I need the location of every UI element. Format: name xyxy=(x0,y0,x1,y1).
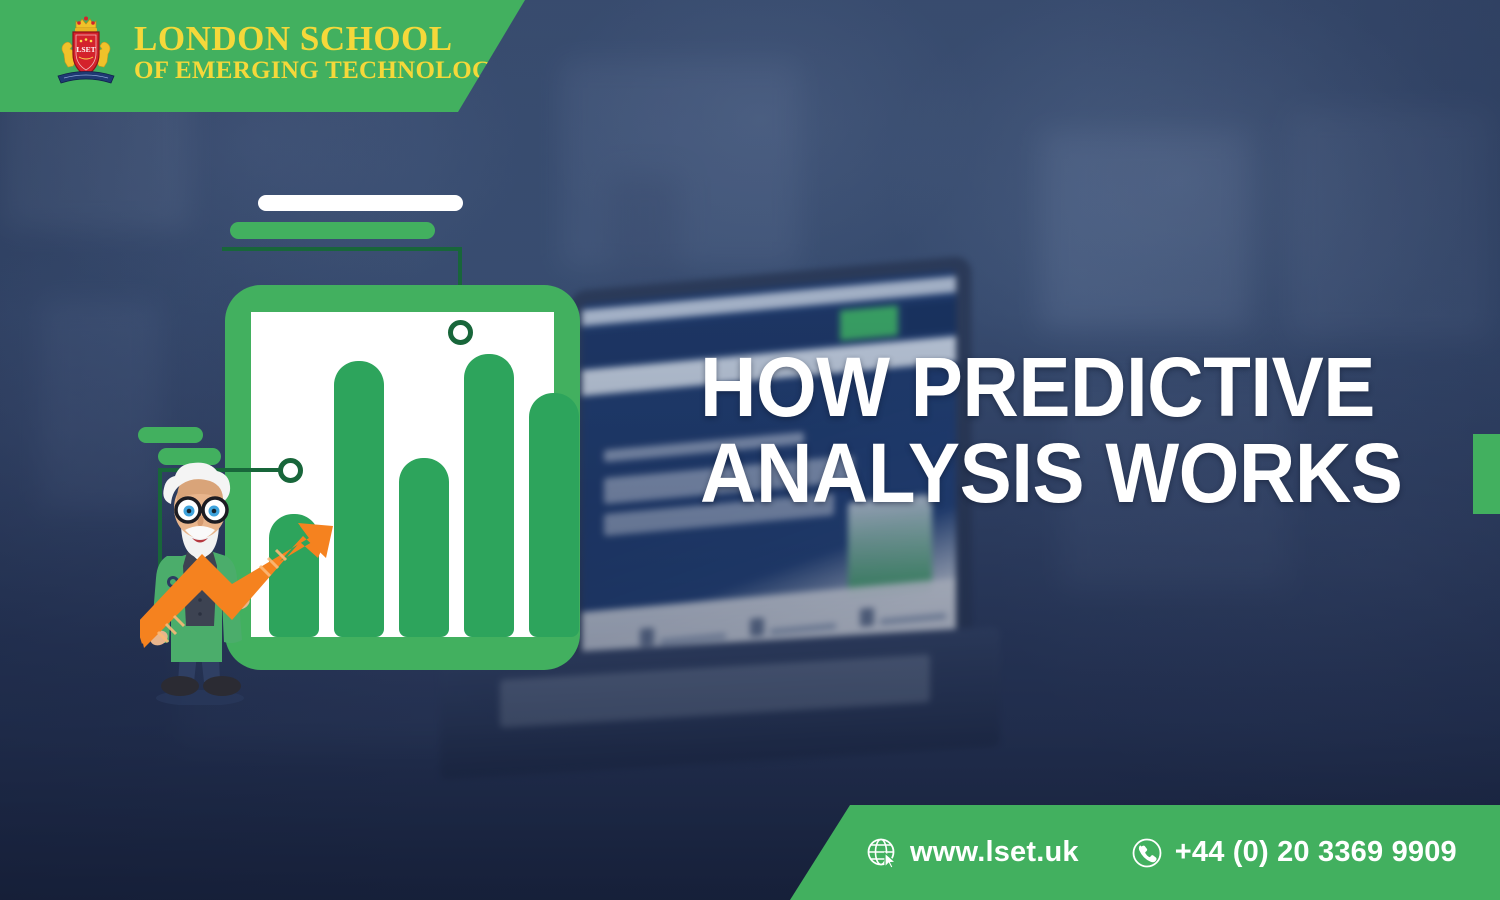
title-accent-box xyxy=(1473,434,1500,514)
footer-banner: www.lset.uk +44 (0) 20 3369 9909 xyxy=(790,805,1500,900)
callout-connector-horizontal xyxy=(222,247,462,251)
title-line-2-row: ANALYSIS WORKS xyxy=(700,434,1500,514)
footer-contact-bar: www.lset.uk +44 (0) 20 3369 9909 xyxy=(850,805,1500,900)
chart-bar xyxy=(399,458,449,637)
title-line-2: ANALYSIS WORKS xyxy=(700,434,1402,514)
brand-logo-text: LONDON SCHOOL OF EMERGING TECHNOLOGY xyxy=(134,21,510,83)
lset-crest-icon: LSET xyxy=(52,14,120,90)
callout-bar-green xyxy=(138,427,203,443)
footer-website-label: www.lset.uk xyxy=(910,836,1079,869)
growth-arrow-icon xyxy=(140,520,345,670)
callout-dot-icon xyxy=(278,458,303,483)
infographic-illustration xyxy=(130,180,610,725)
page-title: HOW PREDICTIVE ANALYSIS WORKS xyxy=(700,348,1500,514)
title-line-1: HOW PREDICTIVE xyxy=(700,348,1500,428)
chart-bar xyxy=(464,354,514,637)
callout-dot-icon xyxy=(448,320,473,345)
brand-name-line2: OF EMERGING TECHNOLOGY xyxy=(134,58,510,83)
chart-bar xyxy=(529,393,579,637)
footer-phone-label: +44 (0) 20 3369 9909 xyxy=(1175,836,1457,869)
brand-name-line1: LONDON SCHOOL xyxy=(134,21,510,56)
svg-text:LSET: LSET xyxy=(76,45,95,54)
callout-bar-green xyxy=(230,222,435,239)
callout-bar-white xyxy=(258,195,463,211)
phone-circle-icon xyxy=(1131,837,1163,869)
globe-cursor-icon xyxy=(866,837,898,869)
footer-phone[interactable]: +44 (0) 20 3369 9909 xyxy=(1131,836,1457,869)
footer-website[interactable]: www.lset.uk xyxy=(866,836,1079,869)
brand-logo[interactable]: LSET LONDON SCHOOL OF EMERGING TECHNOLOG… xyxy=(52,14,510,90)
header-banner: LSET LONDON SCHOOL OF EMERGING TECHNOLOG… xyxy=(0,0,525,112)
